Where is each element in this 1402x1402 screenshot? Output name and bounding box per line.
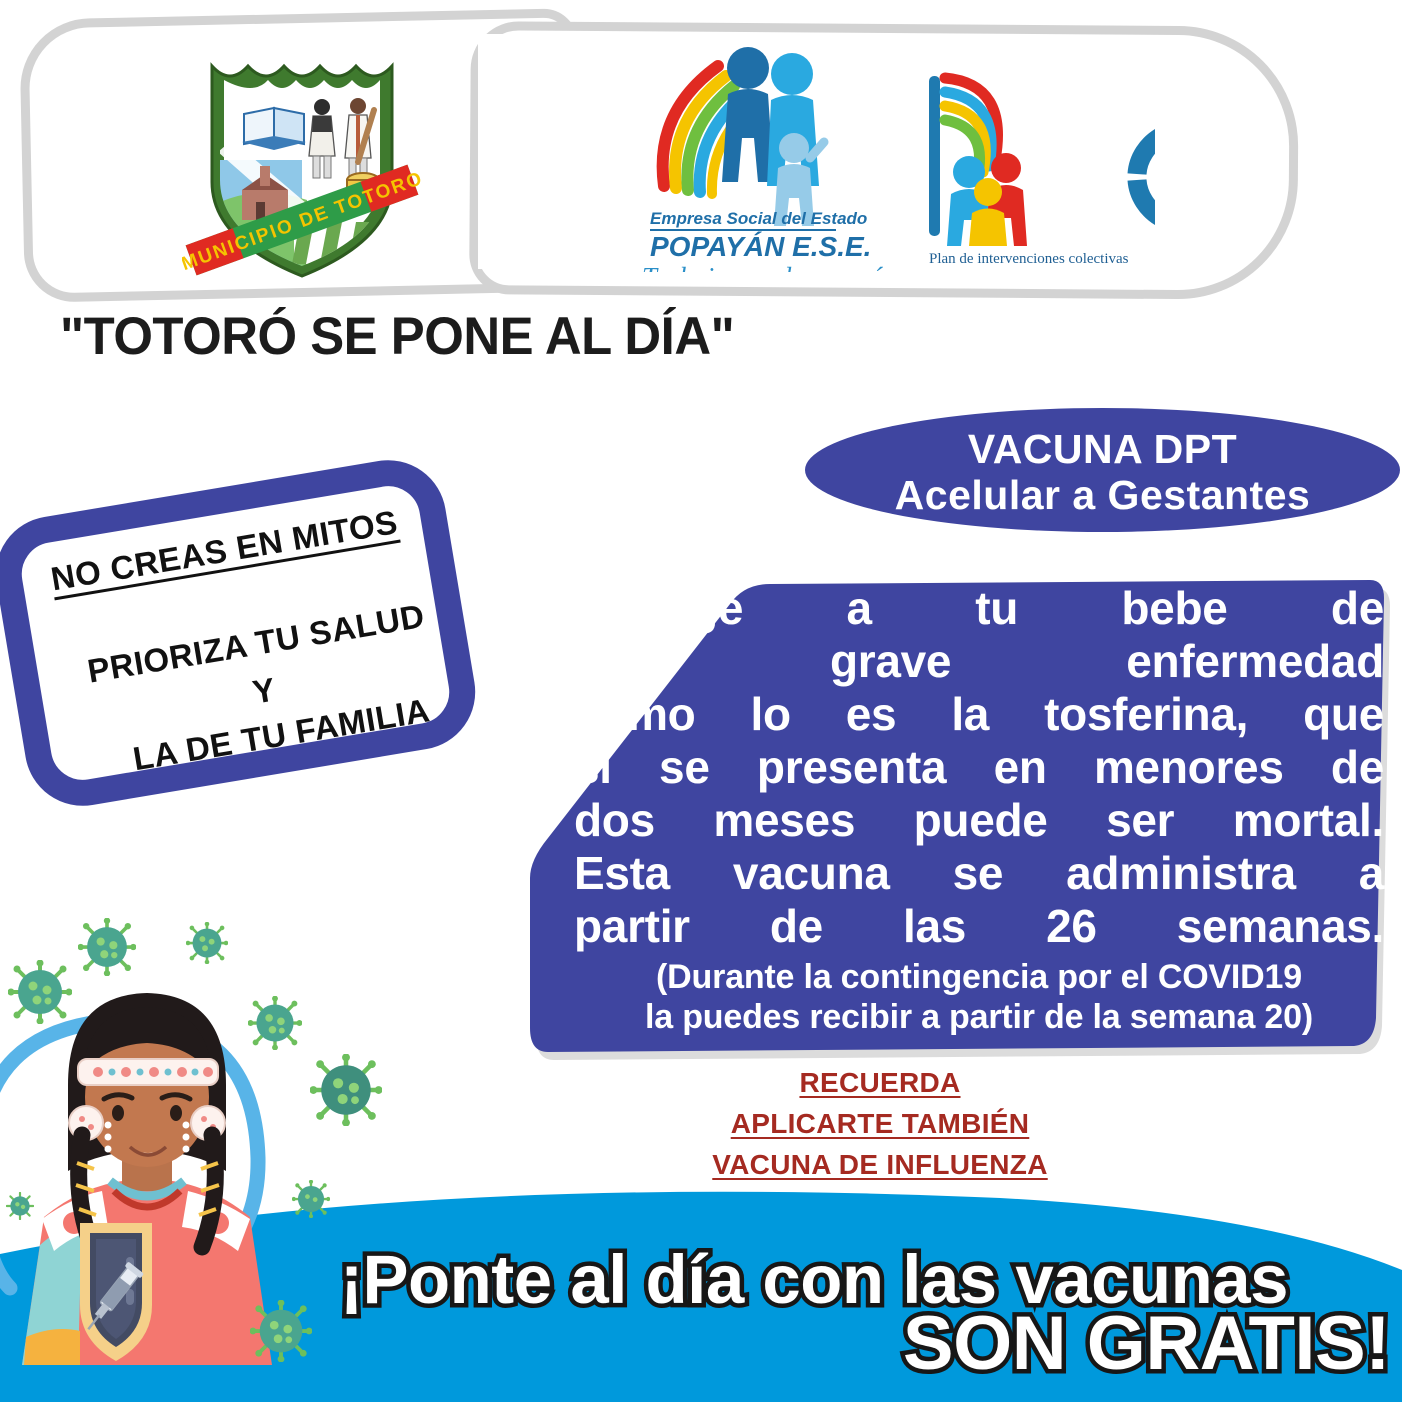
info-line-2: una grave enfermedad — [574, 635, 1384, 688]
virus-particle-icon — [6, 1192, 34, 1220]
header-outline-mask — [478, 34, 598, 269]
virus-particle-icon — [186, 922, 228, 964]
info-line-6: Esta vacuna se administra a — [574, 847, 1384, 900]
vaccine-title-badge: VACUNA DPT Acelular a Gestantes — [805, 408, 1400, 532]
info-paragraph: Protege a tu bebe de una grave enfermeda… — [574, 582, 1384, 953]
shield-icon: MUNICIPIO DE TOTORO — [182, 52, 422, 284]
virus-particle-icon — [78, 918, 136, 976]
info-note: (Durante la contingencia por el COVID19 … — [574, 957, 1384, 1037]
ese-logo-icon: Empresa Social del Estado POPAYÁN E.S.E.… — [640, 36, 900, 272]
vaccine-badge-line-2: Acelular a Gestantes — [805, 472, 1400, 519]
ese-line3: Trabajamos de corazón — [642, 262, 897, 272]
ese-line1: Empresa Social del Estado — [650, 209, 867, 228]
pic-caption: Plan de intervenciones colectivas — [929, 251, 1129, 267]
bottom-banner-line-2: SON GRATIS! — [340, 1300, 1390, 1387]
ese-line2: POPAYÁN E.S.E. — [650, 231, 871, 262]
myth-line-1: NO CREAS EN MITOS — [14, 497, 435, 604]
virus-particle-icon — [310, 1054, 382, 1126]
info-panel: Protege a tu bebe de una grave enfermeda… — [518, 560, 1390, 1060]
municipio-shield-logo: MUNICIPIO DE TOTORO — [182, 52, 422, 284]
virus-particle-icon — [8, 960, 72, 1024]
reminder-line-2: APLICARTE TAMBIÉN — [600, 1103, 1160, 1144]
poster-canvas: MUNICIPIO DE TOTORO Empresa Social del E… — [0, 0, 1402, 1402]
reminder-line-1: RECUERDA — [600, 1062, 1160, 1103]
popayan-ese-logo: Empresa Social del Estado POPAYÁN E.S.E.… — [640, 36, 900, 272]
myth-callout-bubble: NO CREAS EN MITOS PRIORIZA TU SALUD Y LA… — [0, 451, 484, 814]
page-title: "TOTORÓ SE PONE AL DÍA" — [60, 306, 734, 367]
info-note-line-1: (Durante la contingencia por el COVID19 — [574, 957, 1384, 997]
virus-particle-icon — [248, 996, 302, 1050]
info-note-line-2: la puedes recibir a partir de la semana … — [574, 997, 1384, 1037]
virus-particle-icon — [292, 1180, 330, 1218]
info-panel-text: Protege a tu bebe de una grave enfermeda… — [574, 582, 1384, 1037]
pic-logo: PIC Plan de intervenciones colectivas — [905, 56, 1155, 272]
info-line-4: si se presenta en menores de — [574, 741, 1384, 794]
virus-particle-icon — [250, 1300, 312, 1362]
info-line-7: partir de las 26 semanas. — [574, 900, 1384, 953]
info-line-5: dos meses puede ser mortal. — [574, 794, 1384, 847]
info-line-3: como lo es la tosferina, que — [574, 688, 1384, 741]
vaccine-badge-line-1: VACUNA DPT — [805, 426, 1400, 473]
pic-logo-icon: PIC Plan de intervenciones colectivas — [905, 56, 1155, 272]
myth-callout-inner: NO CREAS EN MITOS PRIORIZA TU SALUD Y LA… — [17, 473, 514, 836]
info-line-1: Protege a tu bebe de — [574, 582, 1384, 635]
